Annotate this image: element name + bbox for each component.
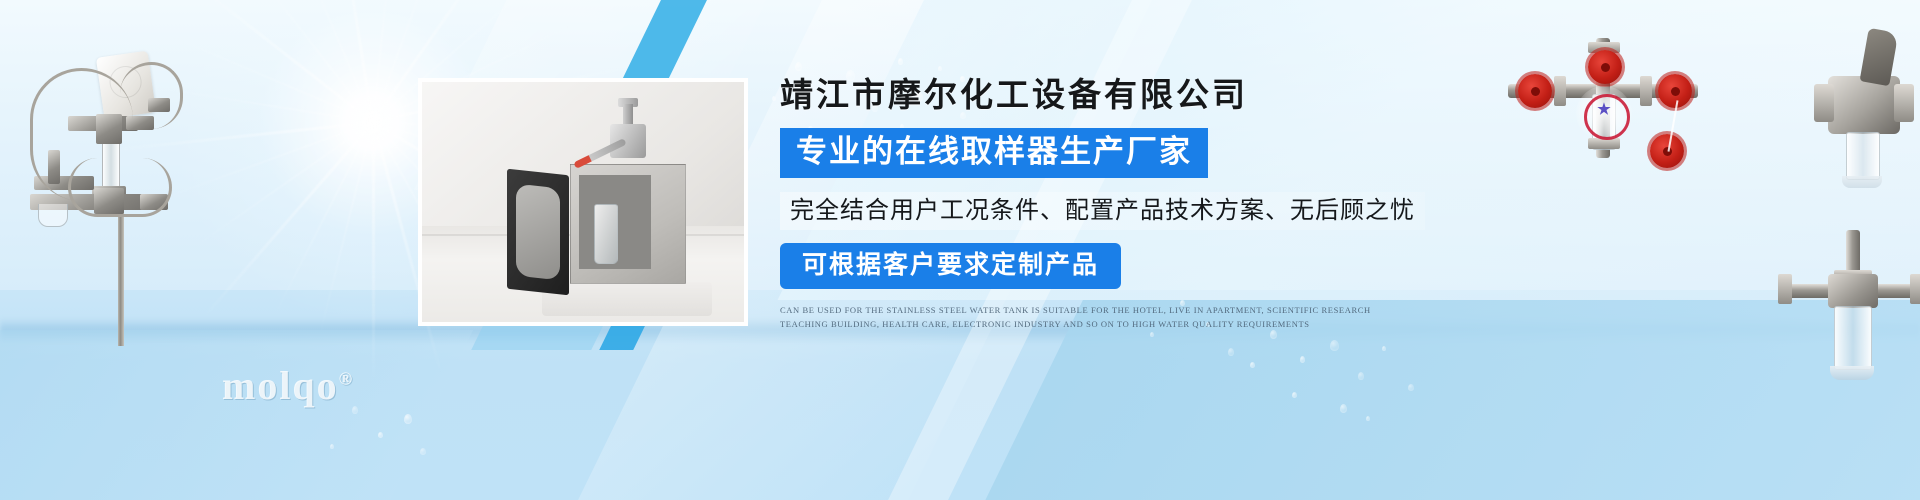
water-droplet xyxy=(795,62,802,71)
water-droplet xyxy=(330,444,334,449)
lever-valve-flange-right xyxy=(1894,84,1914,122)
english-description: CAN BE USED FOR THE STAINLESS STEEL WATE… xyxy=(780,303,1380,331)
lever-valve-sight-glass xyxy=(1846,132,1880,180)
water-droplet xyxy=(772,96,776,101)
water-droplet xyxy=(1292,392,1297,398)
water-droplet xyxy=(1250,362,1255,368)
water-droplet xyxy=(1408,384,1414,391)
watermark-registered-mark: ® xyxy=(339,369,354,389)
water-droplet xyxy=(1358,372,1364,380)
lever-valve-outlet xyxy=(1842,176,1882,188)
water-droplet xyxy=(1150,332,1154,337)
marketing-copy-block: 靖江市摩尔化工设备有限公司 专业的在线取样器生产厂家 完全结合用户工况条件、配置… xyxy=(780,76,1780,331)
product-image-lever-valve xyxy=(1800,28,1920,208)
water-droplet xyxy=(378,432,383,438)
headline-badge: 专业的在线取样器生产厂家 xyxy=(780,128,1208,178)
valve-stem xyxy=(623,104,633,126)
sub-headline: 完全结合用户工况条件、配置产品技术方案、无后顾之忧 xyxy=(780,192,1425,230)
bottom-left-wedge xyxy=(0,330,473,500)
lever-valve-body xyxy=(1828,76,1900,134)
water-droplet xyxy=(1366,416,1370,421)
sample-bottle xyxy=(594,204,618,264)
tubing-lower xyxy=(68,158,172,217)
water-droplet xyxy=(1270,330,1277,339)
water-droplet xyxy=(1228,348,1234,356)
door-window xyxy=(516,184,560,281)
sample-bottle-left xyxy=(38,204,68,227)
tubing-right xyxy=(120,62,183,129)
product-image-left-sampler xyxy=(8,18,238,338)
product-photo-center xyxy=(418,78,748,326)
inline-flange-right xyxy=(1910,274,1920,304)
lever-valve-flange-left xyxy=(1814,84,1834,122)
water-droplet xyxy=(420,448,426,455)
cabinet-door xyxy=(507,169,569,296)
inline-sight-glass xyxy=(1834,306,1872,370)
water-droplet xyxy=(1382,346,1386,351)
sun-ray xyxy=(372,122,375,382)
sampling-valve-head xyxy=(592,102,664,172)
inline-flange-left xyxy=(1778,274,1792,304)
watermark-logo: molqo® xyxy=(222,362,354,409)
water-droplet xyxy=(938,66,942,71)
inline-outlet xyxy=(1830,366,1874,380)
sampler-cabinet xyxy=(570,164,686,284)
cta-badge: 可根据客户要求定制产品 xyxy=(780,243,1121,289)
watermark-text: molqo xyxy=(222,363,339,408)
water-droplet xyxy=(898,58,903,65)
water-droplet xyxy=(1330,340,1339,351)
promo-banner: ★ 靖江市摩尔化工设备有限公司 专业的在线取样器生产厂家 完全结合用户工况条件、… xyxy=(0,0,1920,500)
company-name: 靖江市摩尔化工设备有限公司 xyxy=(780,76,1780,116)
inline-valve-body xyxy=(1828,274,1878,308)
mounting-pole xyxy=(118,198,124,346)
product-image-inline-sampler xyxy=(1770,230,1920,410)
water-droplet xyxy=(1300,356,1305,363)
water-droplet xyxy=(1340,404,1347,413)
water-droplet xyxy=(404,414,412,424)
